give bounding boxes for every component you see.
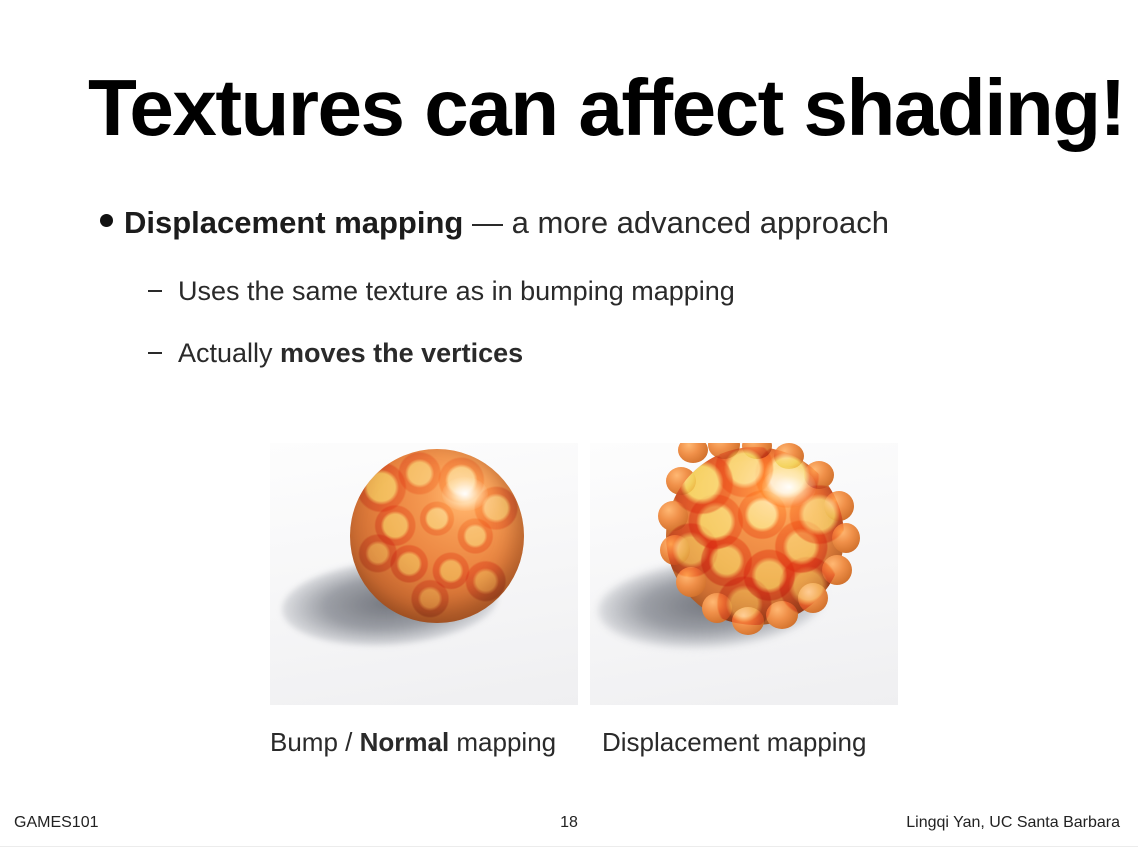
bullet-level2-text-1: Uses the same texture as in bumping mapp… bbox=[178, 275, 735, 307]
bullet-level2-bold-2: moves the vertices bbox=[280, 338, 523, 368]
sphere-bump-normal bbox=[350, 449, 524, 623]
slide-footer: GAMES101 18 Lingqi Yan, UC Santa Barbara bbox=[0, 814, 1138, 844]
lump bbox=[678, 443, 708, 463]
displacement-mapping-render bbox=[590, 443, 898, 705]
figure-caption-left: Bump / Normal mapping bbox=[270, 727, 556, 758]
dash-marker-icon bbox=[148, 352, 162, 355]
sphere-displacement bbox=[666, 447, 844, 625]
figure-caption-right: Displacement mapping bbox=[602, 727, 866, 758]
bump-texture-overlay bbox=[350, 449, 524, 623]
bump-normal-mapping-render bbox=[270, 443, 578, 705]
figure-group bbox=[270, 443, 898, 705]
bullet-level1-bold: Displacement mapping bbox=[124, 205, 463, 240]
bullet-level1-rest: — a more advanced approach bbox=[463, 205, 889, 240]
displacement-texture-overlay bbox=[666, 447, 844, 625]
bullet-level2-item-2: Actually moves the vertices bbox=[148, 337, 523, 369]
bullet-level2-text-2: Actually moves the vertices bbox=[178, 337, 523, 369]
bullet-level1: Displacement mapping — a more advanced a… bbox=[100, 204, 889, 241]
page-title: Textures can affect shading! bbox=[88, 68, 1125, 148]
caption-left-plain2: mapping bbox=[449, 727, 556, 757]
slide-canvas: Textures can affect shading! Displacemen… bbox=[0, 0, 1138, 852]
bullet-level2-item-1: Uses the same texture as in bumping mapp… bbox=[148, 275, 735, 307]
bullet-dot-icon bbox=[100, 214, 113, 227]
caption-left-plain1: Bump / bbox=[270, 727, 360, 757]
bullet-level2-plain-2: Actually bbox=[178, 338, 280, 368]
bullet-level1-text: Displacement mapping — a more advanced a… bbox=[124, 204, 889, 241]
footer-author-label: Lingqi Yan, UC Santa Barbara bbox=[906, 814, 1120, 832]
footer-divider bbox=[0, 846, 1138, 847]
caption-left-bold: Normal bbox=[360, 727, 450, 757]
caption-right-plain1: Displacement mapping bbox=[602, 727, 866, 757]
dash-marker-icon bbox=[148, 290, 162, 293]
